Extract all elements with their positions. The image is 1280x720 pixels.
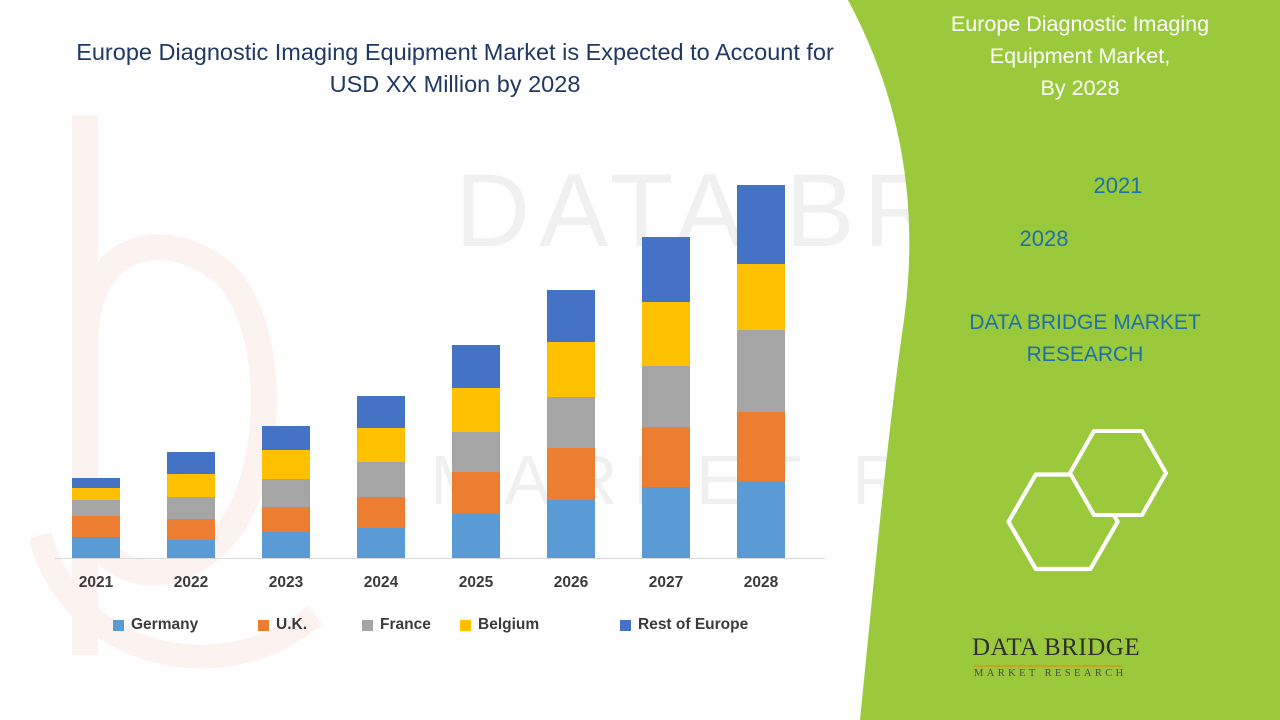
bar-segment-france <box>357 462 405 497</box>
bar-segment-rest-of-europe <box>167 452 215 474</box>
x-axis-label-2027: 2027 <box>621 574 711 592</box>
hex-label-2028: 2028 <box>998 226 1090 252</box>
x-axis-label-2022: 2022 <box>146 574 236 592</box>
bar-segment-germany <box>262 532 310 558</box>
legend-swatch-icon <box>258 620 269 631</box>
bar-segment-u-k <box>737 412 785 482</box>
x-axis-line <box>55 558 825 559</box>
bar-segment-france <box>452 432 500 472</box>
brand-name: DATA BRIDGE <box>972 634 1140 662</box>
bar-segment-france <box>167 497 215 519</box>
legend-swatch-icon <box>460 620 471 631</box>
x-axis-label-2024: 2024 <box>336 574 426 592</box>
bar-2025 <box>452 345 500 558</box>
bar-segment-u-k <box>642 427 690 487</box>
bar-segment-belgium <box>737 264 785 330</box>
panel-subtitle-line-1: DATA BRIDGE MARKET <box>900 307 1270 339</box>
bar-segment-france <box>737 330 785 412</box>
bar-segment-u-k <box>547 448 595 500</box>
bar-segment-belgium <box>642 302 690 366</box>
bar-segment-rest-of-europe <box>547 290 595 342</box>
bar-segment-rest-of-europe <box>72 478 120 488</box>
bar-2028 <box>737 185 785 558</box>
bar-segment-belgium <box>547 342 595 397</box>
bar-segment-u-k <box>357 497 405 528</box>
bar-segment-france <box>262 479 310 507</box>
bar-segment-germany <box>357 528 405 558</box>
bar-segment-u-k <box>452 472 500 514</box>
right-green-panel: Europe Diagnostic Imaging Equipment Mark… <box>830 0 1280 720</box>
legend-item-france: France <box>362 616 431 634</box>
bar-segment-u-k <box>72 516 120 537</box>
bar-segment-rest-of-europe <box>642 237 690 302</box>
bar-segment-u-k <box>167 519 215 540</box>
bar-segment-belgium <box>167 474 215 497</box>
bar-segment-rest-of-europe <box>737 185 785 264</box>
bar-segment-rest-of-europe <box>262 426 310 450</box>
bar-segment-rest-of-europe <box>452 345 500 388</box>
data-bridge-logo: DATA BRIDGE MARKET RESEARCH <box>890 626 1140 698</box>
legend-swatch-icon <box>620 620 631 631</box>
hex-label-2021: 2021 <box>1072 173 1164 199</box>
legend-swatch-icon <box>362 620 373 631</box>
panel-subtitle: DATA BRIDGE MARKET RESEARCH <box>900 307 1270 371</box>
panel-title: Europe Diagnostic Imaging Equipment Mark… <box>890 8 1270 104</box>
bar-segment-belgium <box>452 388 500 432</box>
bar-segment-germany <box>547 500 595 558</box>
bar-segment-u-k <box>262 507 310 532</box>
x-axis-label-2025: 2025 <box>431 574 521 592</box>
legend-item-u-k: U.K. <box>258 616 307 634</box>
bar-segment-france <box>642 366 690 427</box>
x-axis-label-2021: 2021 <box>51 574 141 592</box>
bar-segment-belgium <box>357 428 405 462</box>
bar-2024 <box>357 396 405 558</box>
brand-divider <box>974 665 1122 667</box>
panel-title-line-2: Equipment Market, <box>890 40 1270 72</box>
x-axis-label-2026: 2026 <box>526 574 616 592</box>
legend-label: Belgium <box>478 616 539 634</box>
bar-2023 <box>262 426 310 558</box>
legend-item-germany: Germany <box>113 616 198 634</box>
legend-label: Rest of Europe <box>638 616 748 634</box>
bar-2027 <box>642 237 690 558</box>
bar-segment-rest-of-europe <box>357 396 405 428</box>
legend-label: Germany <box>131 616 198 634</box>
bar-segment-belgium <box>72 488 120 500</box>
x-axis-labels: 20212022202320242025202620272028 <box>0 574 860 600</box>
legend-item-belgium: Belgium <box>460 616 539 634</box>
chart-plot-area: 20212022202320242025202620272028 Germany… <box>0 0 860 600</box>
bar-segment-germany <box>452 514 500 558</box>
bar-segment-germany <box>167 540 215 558</box>
bar-segment-germany <box>642 487 690 558</box>
bar-2022 <box>167 452 215 558</box>
bar-segment-germany <box>737 482 785 558</box>
hexagon-group: 2028 2021 <box>830 140 1280 290</box>
legend-label: France <box>380 616 431 634</box>
panel-title-line-1: Europe Diagnostic Imaging <box>890 8 1270 40</box>
bar-segment-france <box>547 397 595 448</box>
slide-canvas: DATA BRIDGE MARKET RESEARCH Europe Diagn… <box>0 0 1280 720</box>
bar-segment-france <box>72 500 120 516</box>
legend-item-rest-of-europe: Rest of Europe <box>620 616 748 634</box>
brand-tagline: MARKET RESEARCH <box>974 668 1127 679</box>
panel-subtitle-line-2: RESEARCH <box>900 339 1270 371</box>
legend-swatch-icon <box>113 620 124 631</box>
legend-label: U.K. <box>276 616 307 634</box>
x-axis-label-2028: 2028 <box>716 574 806 592</box>
x-axis-label-2023: 2023 <box>241 574 331 592</box>
chart-legend: GermanyU.K.FranceBelgiumRest of Europe <box>0 616 860 644</box>
bar-segment-belgium <box>262 450 310 479</box>
bar-segment-germany <box>72 537 120 558</box>
bar-2026 <box>547 290 595 558</box>
panel-title-line-3: By 2028 <box>890 72 1270 104</box>
bar-2021 <box>72 478 120 558</box>
